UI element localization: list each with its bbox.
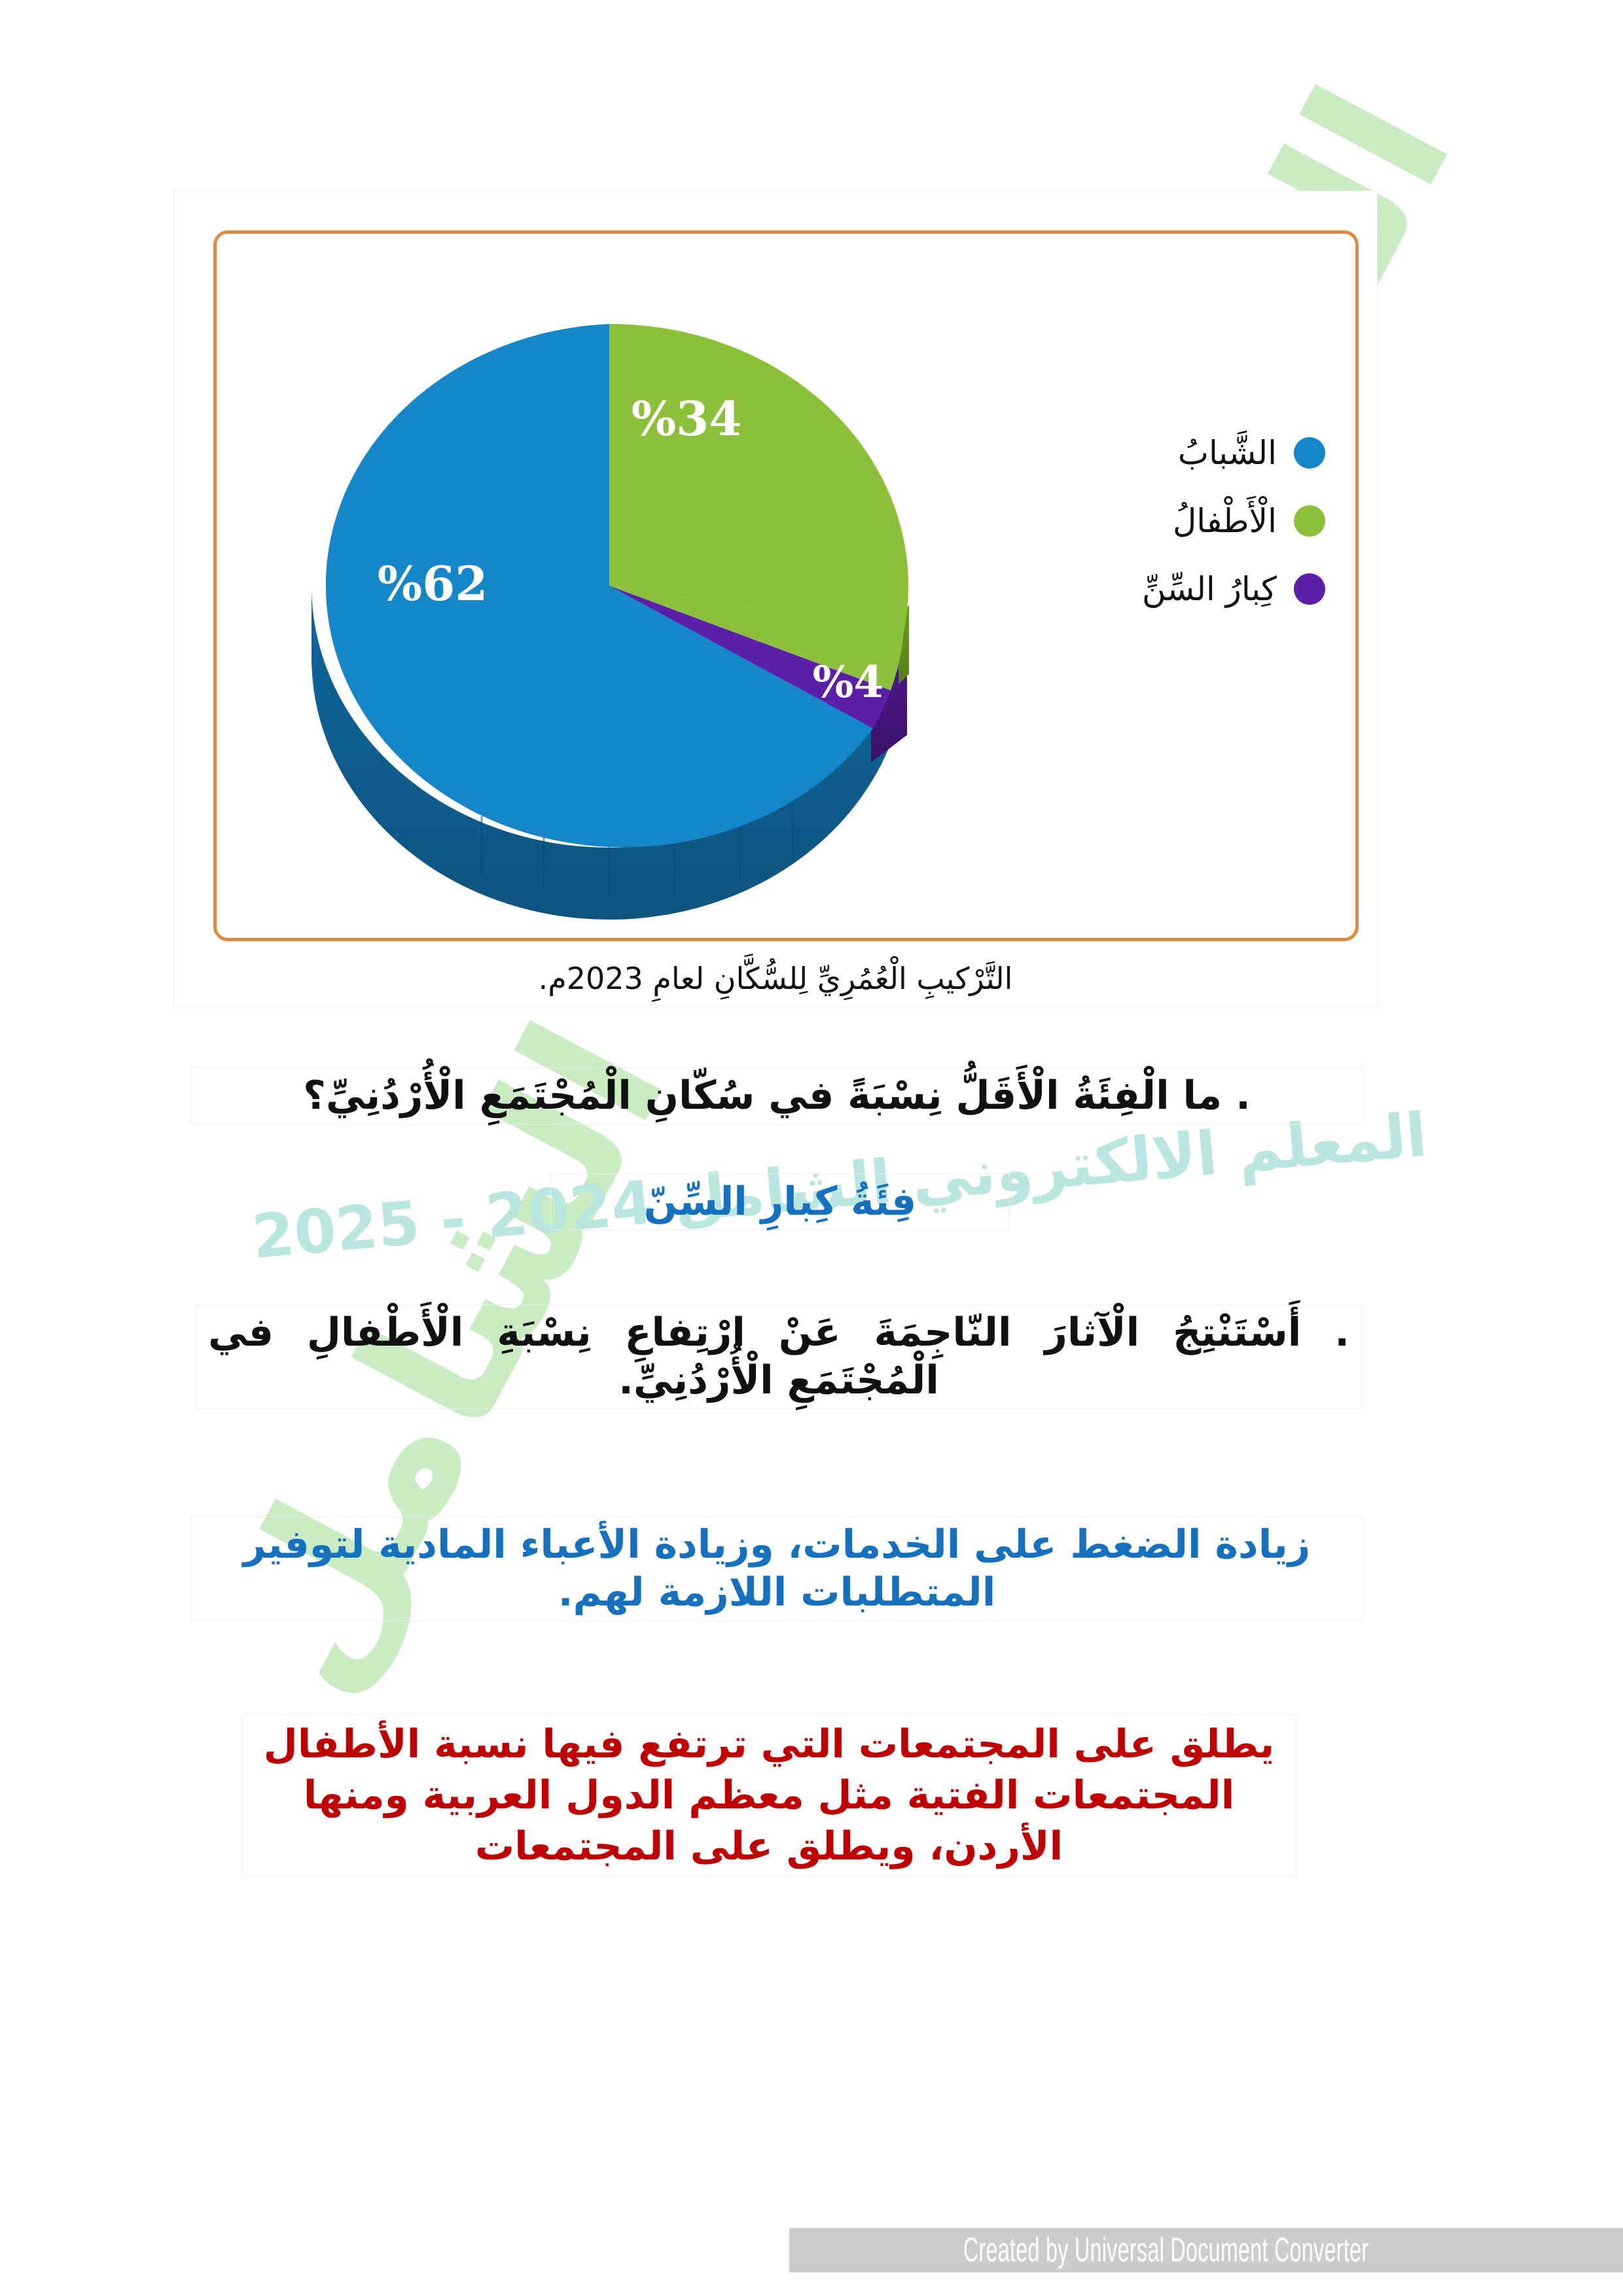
answer-1: فِئَةُ كِبارِ السِّنّ — [551, 1174, 1009, 1230]
legend-item-youth: الشَّبابُ — [1142, 437, 1325, 469]
chart-frame: %34 %62 %4 الشَّبابُ الْأَطْفالُ كِبارُ … — [213, 230, 1359, 941]
chart-card: %34 %62 %4 الشَّبابُ الْأَطْفالُ كِبارُ … — [174, 191, 1377, 1007]
question-2: . أَسْتَنْتِجُ الْآثارَ النّاجِمَةَ عَنْ… — [196, 1305, 1361, 1408]
chart-caption: التَّرْكيبِ الْعُمُرِيِّ لِلسُّكَّانِ لع… — [174, 961, 1377, 996]
answer-2-note-text: يطلق على المجتمعات التي ترتفع فيها نسبة … — [254, 1719, 1284, 1872]
chart-legend: الشَّبابُ الْأَطْفالُ كِبارُ السِّنِّ — [1142, 437, 1325, 605]
question-2-text: . أَسْتَنْتِجُ الْآثارَ النّاجِمَةَ عَنْ… — [208, 1309, 1349, 1405]
legend-item-elderly: كِبارُ السِّنِّ — [1142, 573, 1325, 605]
footer-watermark-text: Created by Universal Document Converter — [954, 2231, 1368, 2270]
answer-1-text: فِئَةُ كِبارِ السِّنّ — [563, 1178, 997, 1226]
pie-label-youth: %62 — [378, 556, 488, 611]
legend-label-elderly: كِبارُ السِّنِّ — [1142, 573, 1277, 605]
answer-2-text: زيادة الضغط على الخدمات، وزيادة الأعباء … — [203, 1521, 1351, 1617]
pie-label-elderly: %4 — [813, 656, 884, 708]
pie-label-children: %34 — [632, 391, 742, 446]
footer-watermark-bar: Created by Universal Document Converter — [789, 2228, 1623, 2272]
legend-label-children: الْأَطْفالُ — [1173, 505, 1277, 537]
legend-item-children: الْأَطْفالُ — [1142, 505, 1325, 537]
pie-slice-children — [609, 324, 908, 632]
answer-2-note: يطلق على المجتمعات التي ترتفع فيها نسبة … — [242, 1715, 1296, 1876]
legend-dot-elderly — [1294, 573, 1325, 605]
legend-dot-youth — [1294, 437, 1325, 469]
legend-label-youth: الشَّبابُ — [1178, 437, 1277, 469]
question-1: . ما الْفِئَةُ الْأَقَلُّ نِسْبَةً في سُ… — [191, 1068, 1363, 1124]
legend-dot-children — [1294, 505, 1325, 537]
question-1-text: . ما الْفِئَةُ الْأَقَلُّ نِسْبَةً في سُ… — [203, 1072, 1351, 1120]
answer-2: زيادة الضغط على الخدمات، وزيادة الأعباء … — [191, 1517, 1363, 1621]
